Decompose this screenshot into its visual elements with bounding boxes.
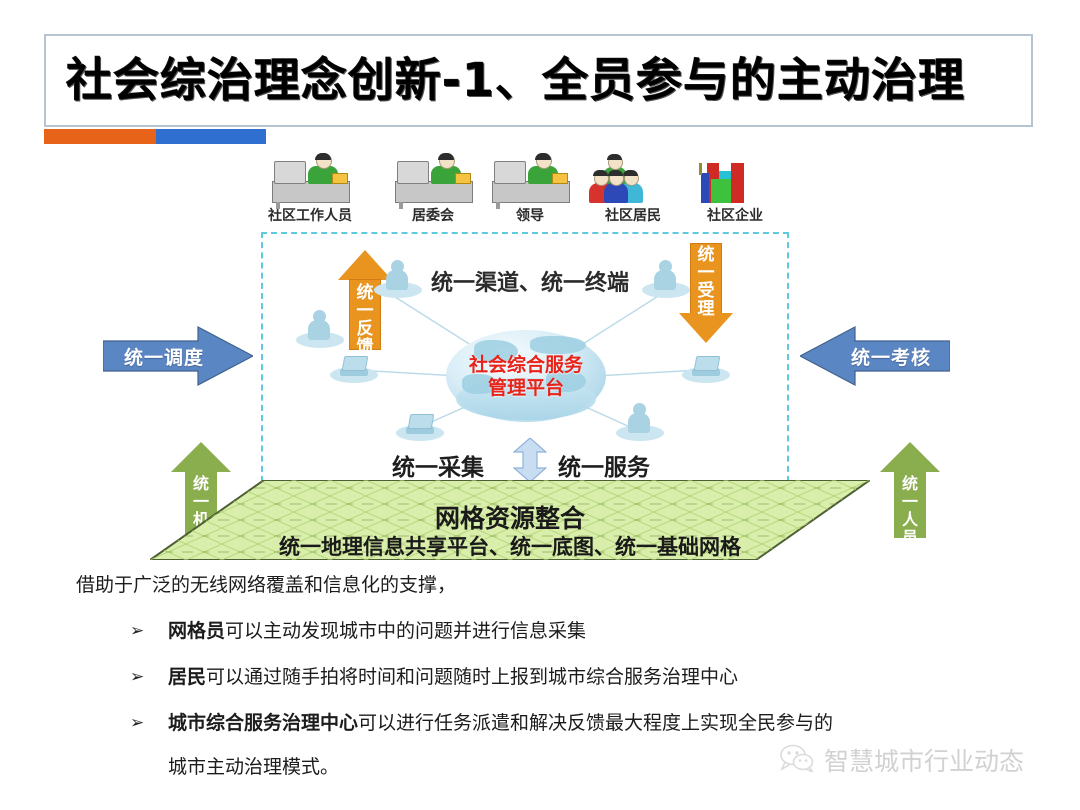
bullet-arrow-icon: ➢ [130,662,144,692]
list-item-rest: 可以进行任务派遣和解决反馈最大程度上实现全民参与的 [358,712,833,734]
list-item: ➢ 网格员可以主动发现城市中的问题并进行信息采集 [76,616,1026,646]
green-arrow-personnel-label: 员 [896,528,924,547]
bullet-arrow-icon: ➢ [130,708,144,738]
serve-label: 统一服务 [558,448,650,482]
green-arrow-personnel-label: 统 [896,474,924,493]
persona-label: 社区居民 [578,205,688,225]
globe-graphic: 社会综合服务 管理平台 [418,330,634,440]
green-arrow-personnel-label: 一 [896,492,924,511]
page-title: 社会综治理念创新-1、全员参与的主动治理 [66,44,1016,116]
desk-worker-icon [260,161,360,203]
network-node-person [370,260,426,298]
bullet-arrow-icon: ➢ [130,616,144,646]
list-item: ➢ 居民可以通过随手拍将时间和问题随时上报到城市综合服务治理中心 [76,662,1026,692]
watermark: 智慧城市行业动态 [780,742,1024,778]
persona-residents-committee: 居委会 [378,161,488,225]
persona-label: 领导 [475,205,585,225]
blue-arrow-assessment-label: 统一考核 [816,343,966,370]
green-arrow-personnel-label: 人 [896,510,924,529]
network-node-computer [678,345,734,383]
orange-arrow-acceptance-label: 理 [691,300,721,319]
persona-community-staff: 社区工作人员 [255,161,365,225]
wechat-icon [780,744,814,776]
network-node-person [292,310,348,348]
list-item-strong: 居民 [168,666,206,688]
list-item-text: 网格员可以主动发现城市中的问题并进行信息采集 [134,616,1026,646]
persona-label: 居委会 [378,205,488,225]
persona-label: 社区工作人员 [255,205,365,225]
desk-worker-icon [383,161,483,203]
green-arrow-personnel: 统 一 人 员 [880,442,940,538]
list-item-rest: 可以主动发现城市中的问题并进行信息采集 [225,620,586,642]
network-node-person [638,260,694,298]
persona-community-enterprise: 社区企业 [680,161,790,225]
persona-label: 社区企业 [680,205,790,225]
diagram-canvas: 社区工作人员 居委会 领导 [0,155,1080,565]
list-item-text: 居民可以通过随手拍将时间和问题随时上报到城市综合服务治理中心 [134,662,1026,692]
intro-line: 借助于广泛的无线网络覆盖和信息化的支撑， [76,570,1026,600]
double-arrow-icon [513,438,547,482]
list-item-rest: 可以通过随手拍将时间和问题随时上报到城市综合服务治理中心 [206,666,738,688]
watermark-text: 智慧城市行业动态 [824,742,1024,778]
collect-label: 统一采集 [392,448,484,482]
list-item-text: 城市综合服务治理中心可以进行任务派遣和解决反馈最大程度上实现全民参与的 [134,708,1026,738]
desk-worker-icon [480,161,580,203]
list-item-strong: 城市综合服务治理中心 [168,712,358,734]
grid-base-title: 网格资源整合 [150,499,870,535]
platform-name: 社会综合服务 管理平台 [418,354,634,400]
persona-leader: 领导 [475,161,585,225]
grid-base-subtitle: 统一地理信息共享平台、统一底图、统一基础网格 [150,531,870,561]
list-item-strong: 网格员 [168,620,225,642]
buildings-icon [685,161,785,203]
platform-name-line1: 社会综合服务 [469,354,583,376]
blue-arrow-dispatch-label: 统一调度 [89,343,239,370]
accent-bar-blue [156,129,266,144]
blue-arrow-assessment: 统一考核 [800,325,950,387]
persona-community-residents: 社区居民 [578,161,688,225]
network-node-computer [326,345,382,383]
people-group-icon [583,161,683,203]
accent-bar-orange [44,129,156,144]
platform-name-line2: 管理平台 [488,377,564,399]
blue-arrow-dispatch: 统一调度 [103,325,253,387]
